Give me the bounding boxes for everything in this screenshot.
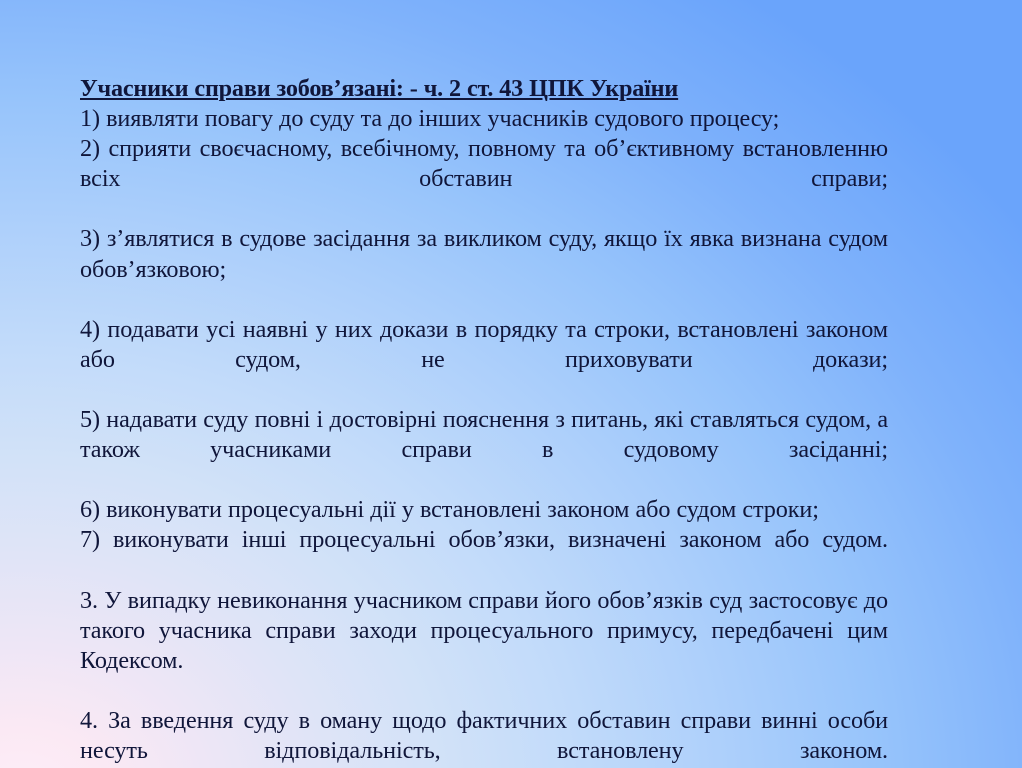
list-item-1: 1) виявляти повагу до суду та до інших у…: [80, 104, 888, 134]
list-item-6: 6) виконувати процесуальні дії у встанов…: [80, 495, 888, 525]
slide-canvas: Учасники справи зобов’язані: - ч. 2 ст. …: [0, 0, 1022, 768]
list-item-5: 5) надавати суду повні і достовірні пояс…: [80, 405, 888, 495]
paragraph-part-3: 3. У випадку невиконання учасником справ…: [80, 586, 888, 706]
list-item-4: 4) подавати усі наявні у них докази в по…: [80, 315, 888, 405]
paragraph-part-4: 4. За введення суду в оману щодо фактичн…: [80, 706, 888, 768]
list-item-7: 7) виконувати інші процесуальні обов’язк…: [80, 525, 888, 585]
slide-heading: Учасники справи зобов’язані: - ч. 2 ст. …: [80, 74, 888, 104]
list-item-3: 3) з’являтися в судове засідання за викл…: [80, 224, 888, 314]
slide-text-block: Учасники справи зобов’язані: - ч. 2 ст. …: [80, 74, 888, 768]
list-item-2: 2) сприяти своєчасному, всебічному, повн…: [80, 134, 888, 224]
